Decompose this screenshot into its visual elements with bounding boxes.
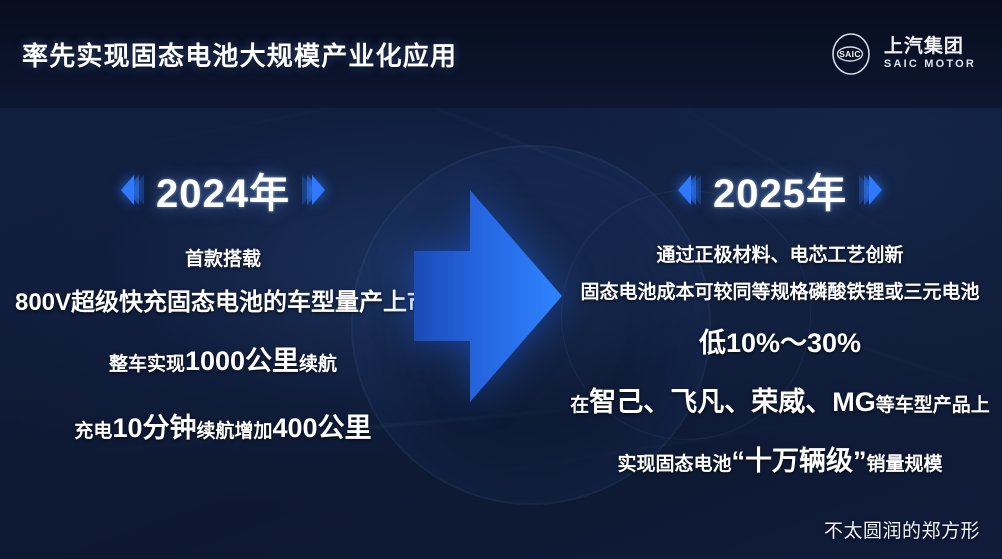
content-line: 通过正极材料、电芯工艺创新 xyxy=(656,240,903,267)
chevron-left-group-icon xyxy=(125,170,140,210)
slide-header: 率先实现固态电池大规模产业化应用 SAIC 上汽集团 SAIC MOTOR xyxy=(0,0,1002,108)
timeline-column-2025: 2025年 通过正极材料、电芯工艺创新固态电池成本可较同等规格磷酸铁锂或三元电池… xyxy=(560,108,1000,559)
content-line: 在智己、飞凡、荣威、MG等车型产品上 xyxy=(570,380,990,419)
content-text: 销量规模 xyxy=(867,454,943,475)
content-text: 整车实现 xyxy=(109,354,185,375)
content-line: 首款搭载 xyxy=(185,244,261,271)
chevron-left-group-icon xyxy=(682,170,697,210)
content-text: 续航 xyxy=(299,354,337,375)
logo-name-cn: 上汽集团 xyxy=(884,37,976,57)
year-heading-2025: 2025年 xyxy=(682,164,878,216)
logo-name-en: SAIC MOTOR xyxy=(884,59,976,71)
content-text: 通过正极材料、电芯工艺创新 xyxy=(656,245,903,266)
content-text: 低10%～30% xyxy=(699,328,861,358)
content-text: 实现固态电池 xyxy=(617,454,731,475)
chevron-right-group-icon xyxy=(306,170,321,210)
content-text: 充电 xyxy=(74,421,112,442)
presentation-slide: 率先实现固态电池大规模产业化应用 SAIC 上汽集团 SAIC MOTOR xyxy=(0,0,1002,559)
content-text: 800V超级快充固态电池的车型量产上市 xyxy=(15,289,431,316)
content-text: 首款搭载 xyxy=(185,249,261,270)
timeline-columns: 2024年 首款搭载800V超级快充固态电池的车型量产上市整车实现1000公里续… xyxy=(0,108,1002,559)
content-text: 400公里 xyxy=(273,413,372,443)
year-label: 2024年 xyxy=(156,161,290,219)
content-line: 低10%～30% xyxy=(699,321,861,360)
content-line: 固态电池成本可较同等规格磷酸铁锂或三元电池 xyxy=(580,277,979,304)
year-label: 2025年 xyxy=(713,161,847,219)
content-text: 10分钟 xyxy=(112,413,196,443)
content-line: 实现固态电池“十万辆级”销量规模 xyxy=(617,439,942,478)
chevron-right-group-icon xyxy=(863,170,878,210)
content-line: 充电10分钟续航增加400公里 xyxy=(74,406,371,445)
content-text: 等车型产品上 xyxy=(876,395,990,416)
content-line: 整车实现1000公里续航 xyxy=(109,339,337,378)
year-heading-2024: 2024年 xyxy=(125,164,321,216)
page-title: 率先实现固态电池大规模产业化应用 xyxy=(22,36,457,73)
content-text: 在 xyxy=(570,395,589,416)
svg-text:SAIC: SAIC xyxy=(839,49,861,59)
content-text: 1000公里 xyxy=(185,346,299,376)
column-lines-2025: 通过正极材料、电芯工艺创新固态电池成本可较同等规格磷酸铁锂或三元电池低10%～3… xyxy=(560,234,1000,478)
content-text: “十万辆级” xyxy=(732,446,867,476)
content-line: 800V超级快充固态电池的车型量产上市 xyxy=(15,282,431,317)
timeline-column-2024: 2024年 首款搭载800V超级快充固态电池的车型量产上市整车实现1000公里续… xyxy=(8,108,438,559)
content-text: 智己、飞凡、荣威、MG xyxy=(589,387,876,417)
content-text: 固态电池成本可较同等规格磷酸铁锂或三元电池 xyxy=(580,282,979,303)
saic-emblem-icon: SAIC xyxy=(828,31,874,77)
saic-motor-logo: SAIC 上汽集团 SAIC MOTOR xyxy=(828,31,976,77)
watermark-text: 不太圆润的郑方形 xyxy=(824,516,980,543)
content-text: 续航增加 xyxy=(196,421,272,442)
column-lines-2024: 首款搭载800V超级快充固态电池的车型量产上市整车实现1000公里续航充电10分… xyxy=(8,234,438,445)
